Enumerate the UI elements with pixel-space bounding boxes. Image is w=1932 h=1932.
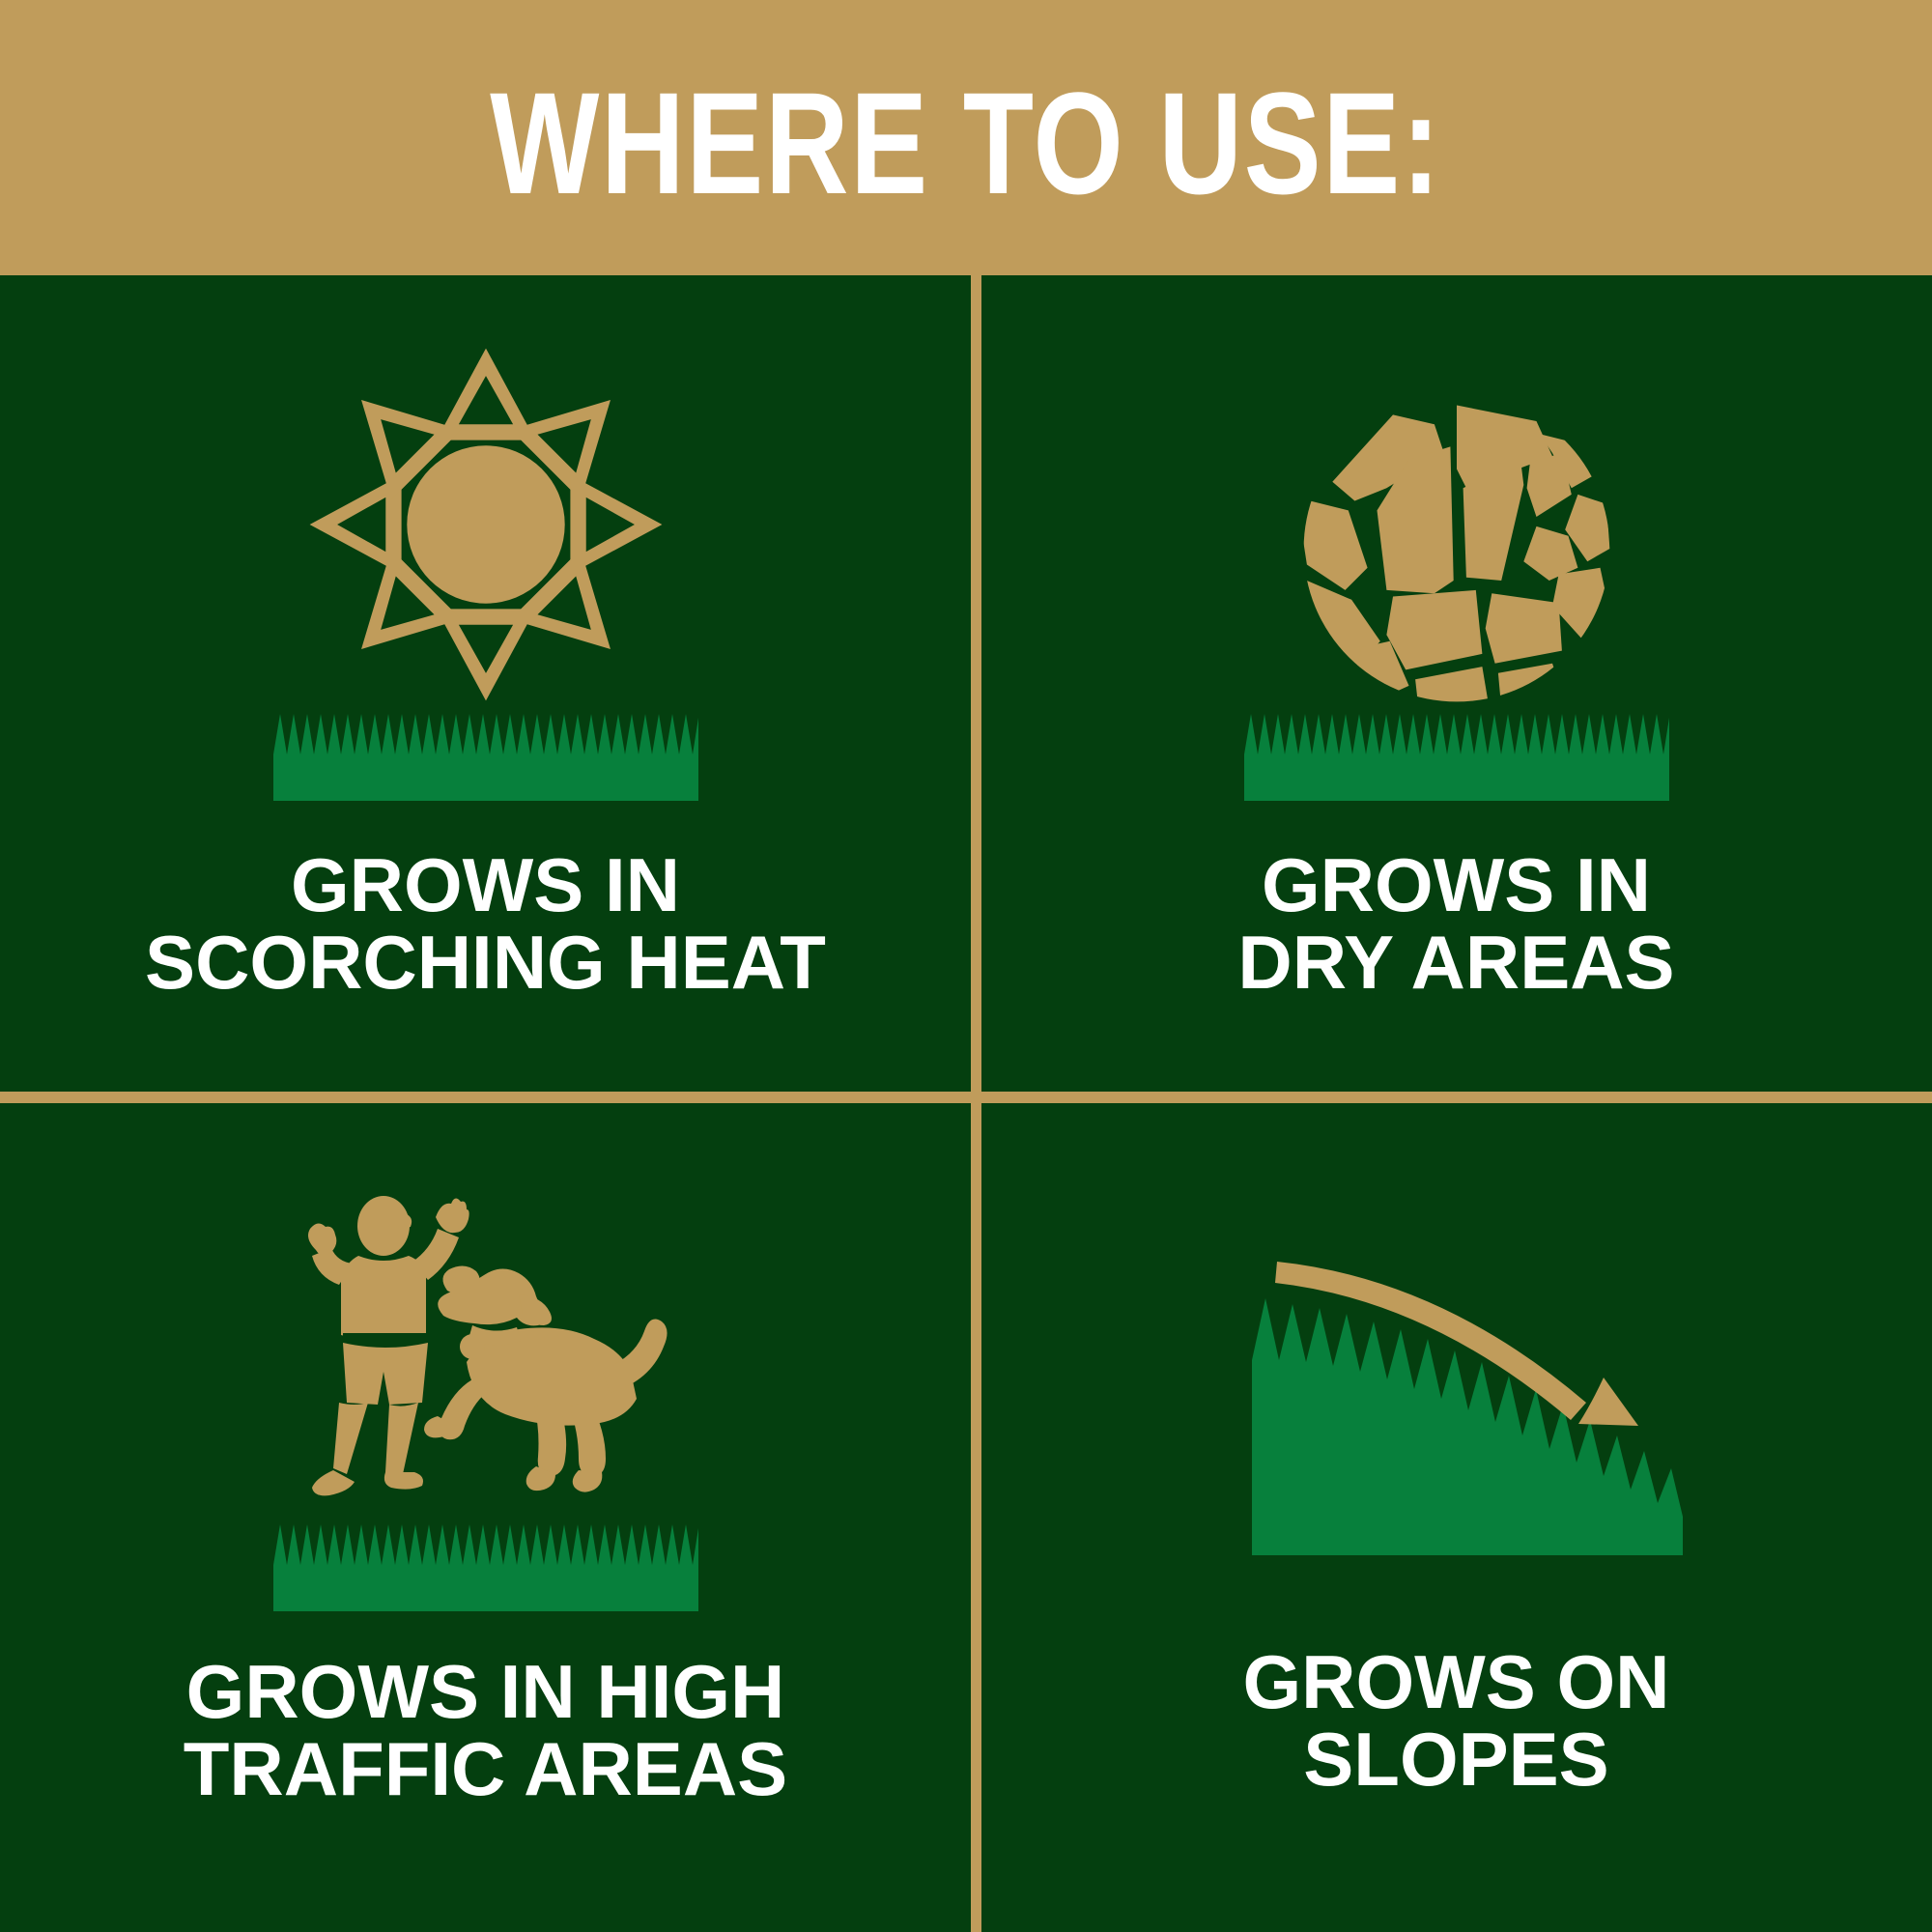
panel-grows-on-slopes: GROWS ON SLOPES [980,1103,1932,1932]
slope-icon-area [1225,1132,1689,1602]
panel-grid: GROWS IN SCORCHING HEAT [0,275,1932,1932]
divider-vertical [971,275,981,1932]
sun-icon-area [302,293,669,708]
grass-strip-icon [1244,708,1669,801]
boy-and-dog-icon-area [283,1142,689,1519]
infographic-page: WHERE TO USE: [0,0,1932,1932]
sun-icon [302,341,669,708]
divider-horizontal [0,1092,1932,1103]
panel-grows-in-dry-areas: GROWS IN DRY AREAS [980,275,1932,1092]
panel-caption-traffic: GROWS IN HIGH TRAFFIC AREAS [184,1654,787,1807]
header-band: WHERE TO USE: [0,0,1932,275]
grass-strip-icon [273,1519,698,1611]
cracked-earth-icon [1297,389,1616,708]
panel-grows-in-scorching-heat: GROWS IN SCORCHING HEAT [0,275,971,1092]
grass-strip-icon [273,708,698,801]
page-title: WHERE TO USE: [490,71,1441,215]
panel-caption-heat: GROWS IN SCORCHING HEAT [145,847,826,1001]
panel-caption-dry: GROWS IN DRY AREAS [1237,847,1674,1001]
panel-caption-slopes: GROWS ON SLOPES [1243,1644,1670,1798]
sloped-grass-with-arrow-icon [1225,1215,1689,1602]
cracked-earth-icon-area [1297,293,1616,708]
boy-and-dog-icon [283,1180,689,1519]
panel-grows-in-high-traffic-areas: GROWS IN HIGH TRAFFIC AREAS [0,1103,971,1932]
